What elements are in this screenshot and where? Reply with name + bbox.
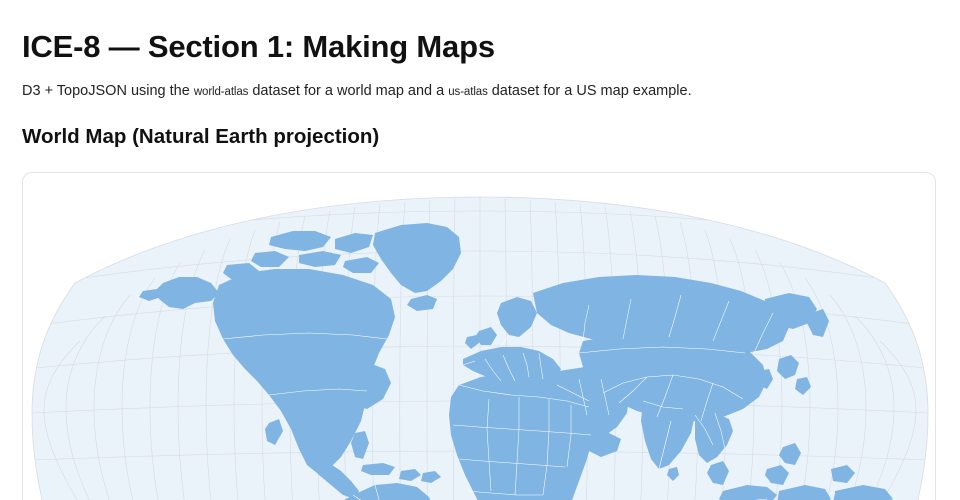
section-title-world-map: World Map (Natural Earth projection) xyxy=(22,102,938,150)
code-us-atlas: us-atlas xyxy=(448,86,487,98)
intro-text-part3: dataset for a US map example. xyxy=(488,83,692,99)
page-title: ICE-8 — Section 1: Making Maps xyxy=(22,0,938,68)
intro-paragraph: D3 + TopoJSON using the world-atlas data… xyxy=(22,68,938,102)
intro-text-part2: dataset for a world map and a xyxy=(248,83,448,99)
world-map-svg[interactable] xyxy=(23,173,936,500)
code-world-atlas: world-atlas xyxy=(194,86,249,98)
page-root: ICE-8 — Section 1: Making Maps D3 + Topo… xyxy=(0,0,960,500)
intro-text-part1: D3 + TopoJSON using the xyxy=(22,83,194,99)
world-map-container xyxy=(22,172,936,500)
